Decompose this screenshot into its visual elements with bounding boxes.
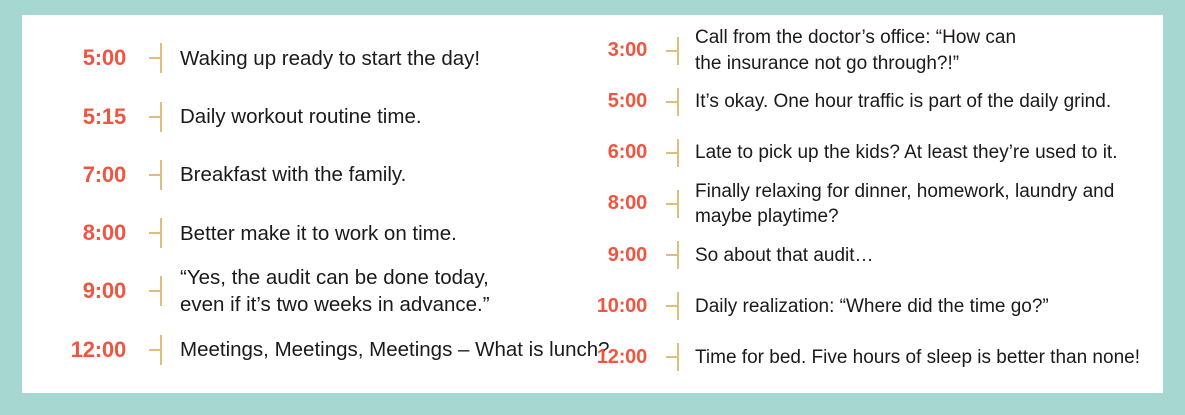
schedule-description: It’s okay. One hour traffic is part of t… <box>695 89 1149 114</box>
description-line: Breakfast with the family. <box>180 161 549 188</box>
schedule-description: Better make it to work on time. <box>180 220 549 247</box>
schedule-row: 6:00Late to pick up the kids? At least t… <box>571 127 1149 178</box>
schedule-description: Waking up ready to start the day! <box>180 45 549 72</box>
description-line: Daily realization: “Where did the time g… <box>695 294 1149 319</box>
timeline-tick-icon <box>140 43 168 73</box>
schedule-time: 5:00 <box>571 90 647 113</box>
description-line: Daily workout routine time. <box>180 103 549 130</box>
description-line: Meetings, Meetings, Meetings – What is l… <box>180 336 549 363</box>
tick-dash <box>149 349 162 351</box>
schedule-time: 5:15 <box>42 104 126 130</box>
schedule-row: 12:00Meetings, Meetings, Meetings – What… <box>42 321 549 379</box>
schedule-time: 9:00 <box>42 278 126 304</box>
timeline-tick-icon <box>140 335 168 365</box>
description-line: So about that audit… <box>695 243 1149 268</box>
description-line: the insurance not go through?!” <box>695 51 1149 76</box>
timeline-tick-icon <box>659 241 685 269</box>
tick-dash <box>149 57 162 59</box>
description-line: Waking up ready to start the day! <box>180 45 549 72</box>
schedule-row: 10:00Daily realization: “Where did the t… <box>571 281 1149 332</box>
schedule-row: 9:00So about that audit… <box>571 230 1149 281</box>
schedule-description: “Yes, the audit can be done today,even i… <box>180 264 549 319</box>
tick-dash <box>149 290 162 292</box>
schedule-row: 3:00Call from the doctor’s office: “How … <box>571 25 1149 76</box>
tick-dash <box>666 254 679 256</box>
daily-schedule-infographic: 5:00Waking up ready to start the day!5:1… <box>0 0 1185 415</box>
schedule-description: Breakfast with the family. <box>180 161 549 188</box>
tick-dash <box>666 305 679 307</box>
schedule-row: 12:00Time for bed. Five hours of sleep i… <box>571 332 1149 383</box>
schedule-time: 10:00 <box>571 295 647 318</box>
schedule-row: 5:15Daily workout routine time. <box>42 87 549 145</box>
schedule-row: 8:00Finally relaxing for dinner, homewor… <box>571 178 1149 229</box>
schedule-description: Late to pick up the kids? At least they’… <box>695 140 1149 165</box>
timeline-tick-icon <box>140 276 168 306</box>
schedule-description: So about that audit… <box>695 243 1149 268</box>
schedule-row: 9:00“Yes, the audit can be done today,ev… <box>42 262 549 320</box>
afternoon-column: 3:00Call from the doctor’s office: “How … <box>549 15 1163 393</box>
tick-dash <box>666 50 679 52</box>
schedule-row: 5:00It’s okay. One hour traffic is part … <box>571 76 1149 127</box>
schedule-time: 5:00 <box>42 45 126 71</box>
schedule-row: 8:00Better make it to work on time. <box>42 204 549 262</box>
schedule-time: 6:00 <box>571 141 647 164</box>
schedule-description: Meetings, Meetings, Meetings – What is l… <box>180 336 549 363</box>
description-line: Finally relaxing for dinner, homework, l… <box>695 179 1149 204</box>
description-line: maybe playtime? <box>695 204 1149 229</box>
description-line: It’s okay. One hour traffic is part of t… <box>695 89 1149 114</box>
tick-dash <box>666 203 679 205</box>
schedule-description: Daily workout routine time. <box>180 103 549 130</box>
schedule-time: 7:00 <box>42 162 126 188</box>
timeline-tick-icon <box>659 88 685 116</box>
tick-dash <box>666 356 679 358</box>
timeline-tick-icon <box>140 218 168 248</box>
schedule-time: 9:00 <box>571 244 647 267</box>
schedule-time: 12:00 <box>571 346 647 369</box>
description-line: Better make it to work on time. <box>180 220 549 247</box>
schedule-description: Call from the doctor’s office: “How cant… <box>695 25 1149 76</box>
timeline-tick-icon <box>659 139 685 167</box>
schedule-time: 8:00 <box>42 220 126 246</box>
description-line: Late to pick up the kids? At least they’… <box>695 140 1149 165</box>
schedule-description: Finally relaxing for dinner, homework, l… <box>695 179 1149 230</box>
morning-column: 5:00Waking up ready to start the day!5:1… <box>22 15 549 393</box>
description-line: Time for bed. Five hours of sleep is bet… <box>695 345 1149 370</box>
schedule-time: 3:00 <box>571 39 647 62</box>
timeline-tick-icon <box>659 343 685 371</box>
schedule-description: Daily realization: “Where did the time g… <box>695 294 1149 319</box>
tick-dash <box>149 174 162 176</box>
description-line: Call from the doctor’s office: “How can <box>695 25 1149 50</box>
timeline-tick-icon <box>659 37 685 65</box>
schedule-description: Time for bed. Five hours of sleep is bet… <box>695 345 1149 370</box>
timeline-tick-icon <box>659 292 685 320</box>
schedule-row: 7:00Breakfast with the family. <box>42 146 549 204</box>
timeline-tick-icon <box>140 102 168 132</box>
description-line: even if it’s two weeks in advance.” <box>180 291 549 318</box>
schedule-time: 8:00 <box>571 192 647 215</box>
tick-dash <box>149 232 162 234</box>
tick-dash <box>666 101 679 103</box>
schedule-row: 5:00Waking up ready to start the day! <box>42 29 549 87</box>
schedule-time: 12:00 <box>42 337 126 363</box>
timeline-tick-icon <box>140 160 168 190</box>
timeline-tick-icon <box>659 190 685 218</box>
schedule-panel: 5:00Waking up ready to start the day!5:1… <box>22 15 1163 393</box>
tick-dash <box>666 152 679 154</box>
tick-dash <box>149 116 162 118</box>
description-line: “Yes, the audit can be done today, <box>180 264 549 291</box>
